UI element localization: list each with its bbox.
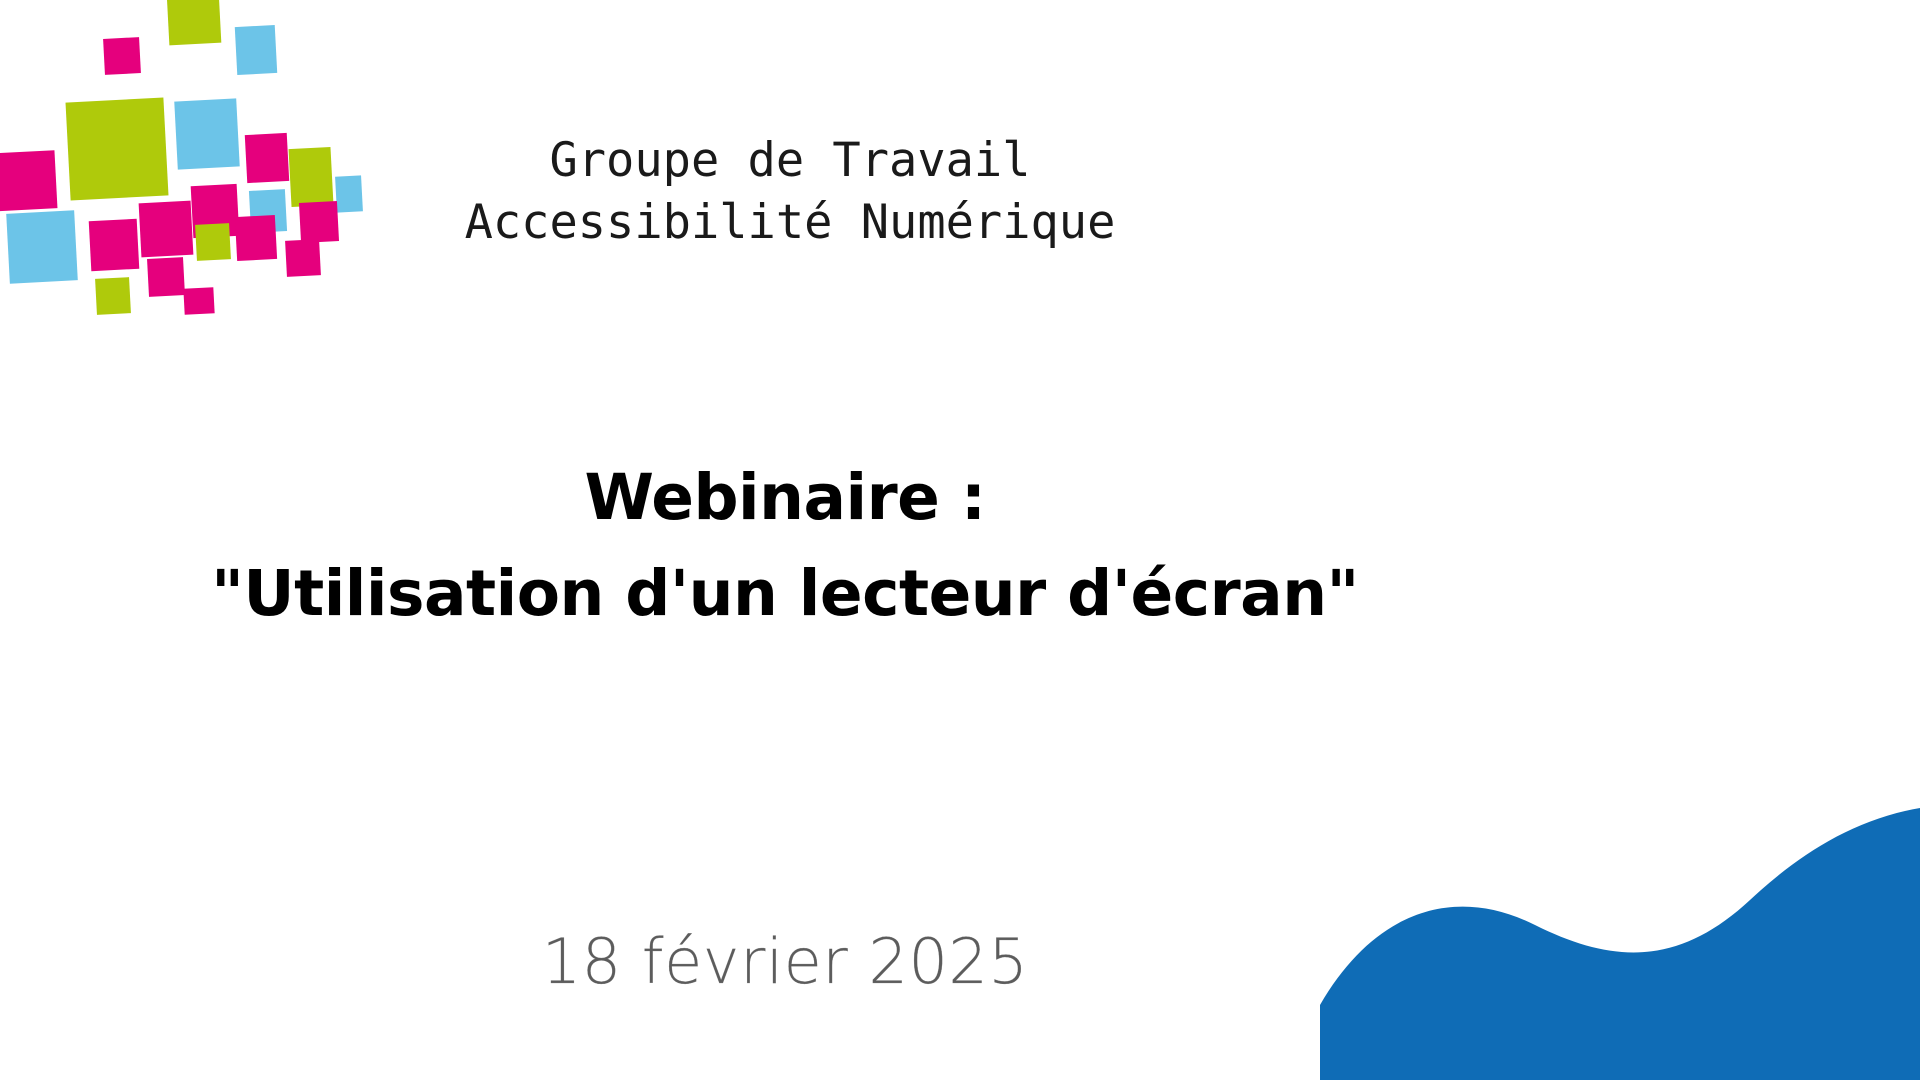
event-date: 18 février 2025 xyxy=(260,925,1310,998)
title-line-2: "Utilisation d'un lecteur d'écran" xyxy=(160,546,1410,642)
mosaic-squares-logo xyxy=(0,0,450,400)
title-line-1: Webinaire : xyxy=(160,450,1410,546)
page-title: Webinaire : "Utilisation d'un lecteur d'… xyxy=(160,450,1410,642)
blue-wave-decoration xyxy=(1320,790,1920,1080)
presentation-slide: Groupe de Travail Accessibilité Numériqu… xyxy=(0,0,1920,1080)
header-line-1: Groupe de Travail xyxy=(420,130,1160,192)
organization-header: Groupe de Travail Accessibilité Numériqu… xyxy=(420,130,1160,254)
header-line-2: Accessibilité Numérique xyxy=(420,192,1160,254)
